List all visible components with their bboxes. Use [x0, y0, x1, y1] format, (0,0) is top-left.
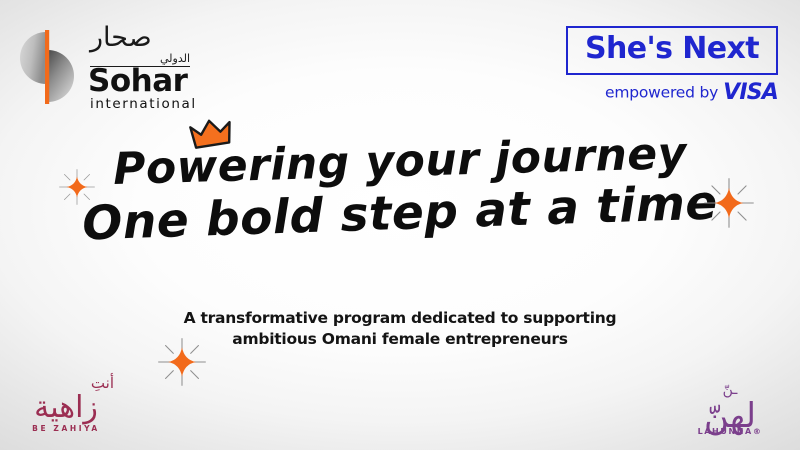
sohar-arabic-name: صحار — [90, 24, 152, 51]
lahunna-latin-name: LAHUNNA® — [676, 428, 784, 436]
be-zahiya-latin-name: BE ZAHIYA — [14, 425, 118, 433]
be-zahiya-logo: أنتِ زاهية BE ZAHIYA — [14, 376, 118, 432]
sohar-latin-subtitle: international — [90, 98, 197, 112]
shes-next-title: She's Next — [580, 34, 764, 65]
lahunna-logo: ـنّ لهنّ LAHUNNA® — [676, 383, 784, 436]
be-zahiya-arabic-top: أنتِ — [14, 376, 118, 391]
lahunna-arabic-top: ـنّ — [676, 383, 784, 397]
crown-icon — [188, 115, 236, 152]
headline-line-2: One bold step at a time — [0, 177, 800, 250]
empowered-by-label: empowered by — [605, 83, 718, 101]
sohar-international-logo: صحار الدولي Sohar international — [18, 22, 248, 114]
promotional-banner: صحار الدولي Sohar international She's Ne… — [0, 0, 800, 450]
be-zahiya-arabic-main: زاهية — [14, 392, 118, 424]
subtitle-block: A transformative program dedicated to su… — [0, 308, 800, 351]
shes-next-visa-logo: She's Next empowered byVISA — [566, 26, 778, 104]
headline-line-1: Powering your journey — [0, 129, 800, 195]
sohar-split-circle-mark — [18, 28, 80, 106]
headline-block: Powering your journey One bold step at a… — [0, 140, 800, 237]
shes-next-badge: She's Next — [566, 26, 778, 75]
sparkle-icon-left — [56, 166, 98, 208]
subtitle-line-1: A transformative program dedicated to su… — [0, 308, 800, 329]
sparkle-icon-right — [702, 176, 756, 230]
sohar-latin-name: Sohar — [88, 66, 187, 97]
empowered-by-visa: empowered byVISA — [566, 82, 778, 104]
subtitle-line-2: ambitious Omani female entrepreneurs — [0, 329, 800, 350]
visa-wordmark: VISA — [723, 80, 778, 105]
